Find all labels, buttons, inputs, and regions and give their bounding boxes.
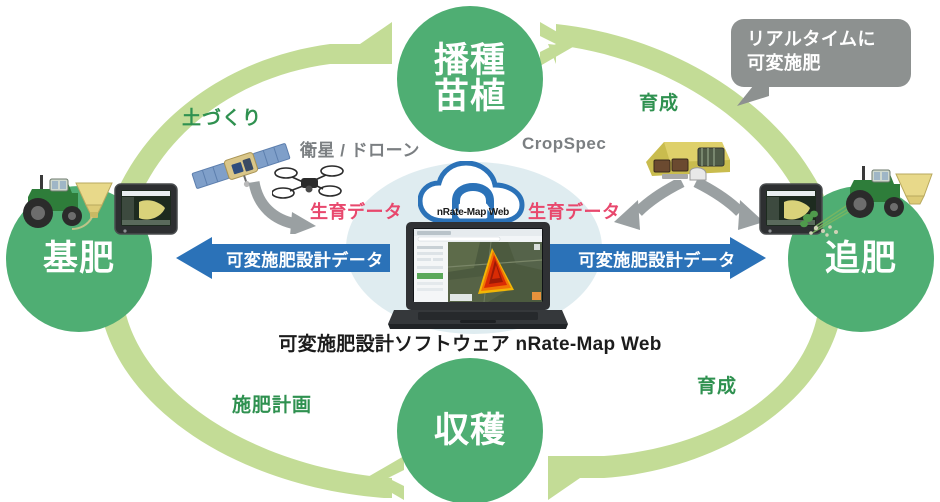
stage-label-line1: 収穫	[434, 413, 506, 449]
cloud-service-label: nRate-Map Web	[418, 207, 528, 218]
callout-line2: 可変施肥	[747, 52, 911, 76]
data-flow-arrows-right-icon	[608, 180, 768, 240]
page-caption: 可変施肥設計ソフトウェア nRate-Map Web	[0, 329, 940, 356]
stage-circle-harvest[interactable]: 収穫	[397, 358, 543, 502]
tractor-spreader-right-icon	[840, 160, 940, 222]
laptop-nrate-map-icon[interactable]	[388, 220, 568, 332]
stage-label-line1: 基肥	[43, 241, 115, 277]
terminal-monitor-left-icon	[113, 182, 179, 238]
callout-line1: リアルタイムに	[747, 28, 911, 52]
tractor-spreader-left-icon	[16, 167, 120, 231]
stage-label-line1: 追肥	[825, 241, 897, 277]
flow-arrow-to-basal[interactable]: 可変施肥設計データ	[176, 237, 390, 279]
arc-label-fertilizer-plan: 施肥計画	[232, 390, 312, 417]
arc-label-growth-top: 育成	[639, 88, 679, 115]
arc-label-growth-bottom: 育成	[697, 371, 737, 398]
callout-realtime-fertilization: リアルタイムに 可変施肥	[731, 19, 911, 87]
label-cropspec: CropSpec	[522, 134, 606, 154]
label-satellite-drone: 衛星 / ドローン	[300, 136, 420, 161]
stage-label-line1: 播種	[434, 43, 506, 79]
diagram-canvas: 播種 苗植 追肥 収穫 基肥 土づくり 育成 育成 施肥計画	[0, 0, 940, 502]
stage-circle-sowing[interactable]: 播種 苗植	[397, 6, 543, 152]
stage-label-line2: 苗植	[434, 79, 506, 115]
arc-label-soil-prep: 土づくり	[182, 103, 262, 130]
flow-arrow-to-topdressing[interactable]: 可変施肥設計データ	[548, 237, 766, 279]
